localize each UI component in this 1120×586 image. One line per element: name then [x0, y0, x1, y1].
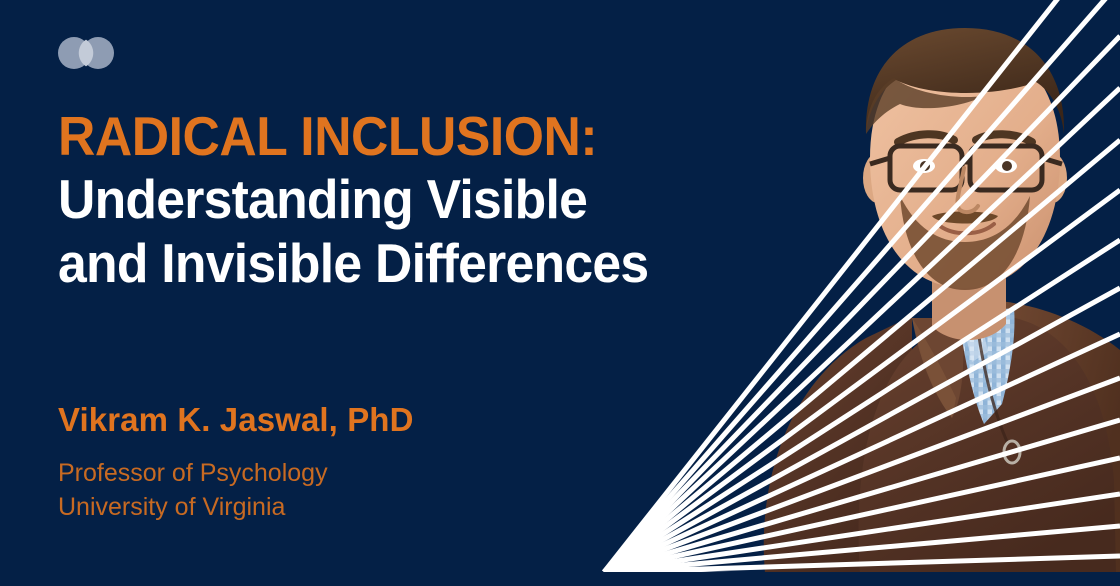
title-line-2: and Invisible Differences [58, 232, 725, 296]
title-main: Understanding Visible and Invisible Diff… [58, 168, 725, 296]
two-overlapping-circles-logo [52, 37, 124, 69]
speaker-affiliation: Professor of Psychology University of Vi… [58, 457, 658, 524]
speaker-block: Vikram K. Jaswal, PhD Professor of Psych… [58, 401, 658, 524]
presentation-title-slide: RADICAL INCLUSION: Understanding Visible… [0, 0, 1120, 586]
title-line-1: Understanding Visible [58, 168, 725, 232]
speaker-affiliation-line-2: University of Virginia [58, 491, 658, 525]
speaker-affiliation-line-1: Professor of Psychology [58, 457, 658, 491]
title-block: RADICAL INCLUSION: Understanding Visible… [58, 108, 768, 296]
title-eyebrow: RADICAL INCLUSION: [58, 108, 725, 164]
bottom-navy-band [0, 572, 1120, 586]
speaker-name: Vikram K. Jaswal, PhD [58, 401, 658, 439]
